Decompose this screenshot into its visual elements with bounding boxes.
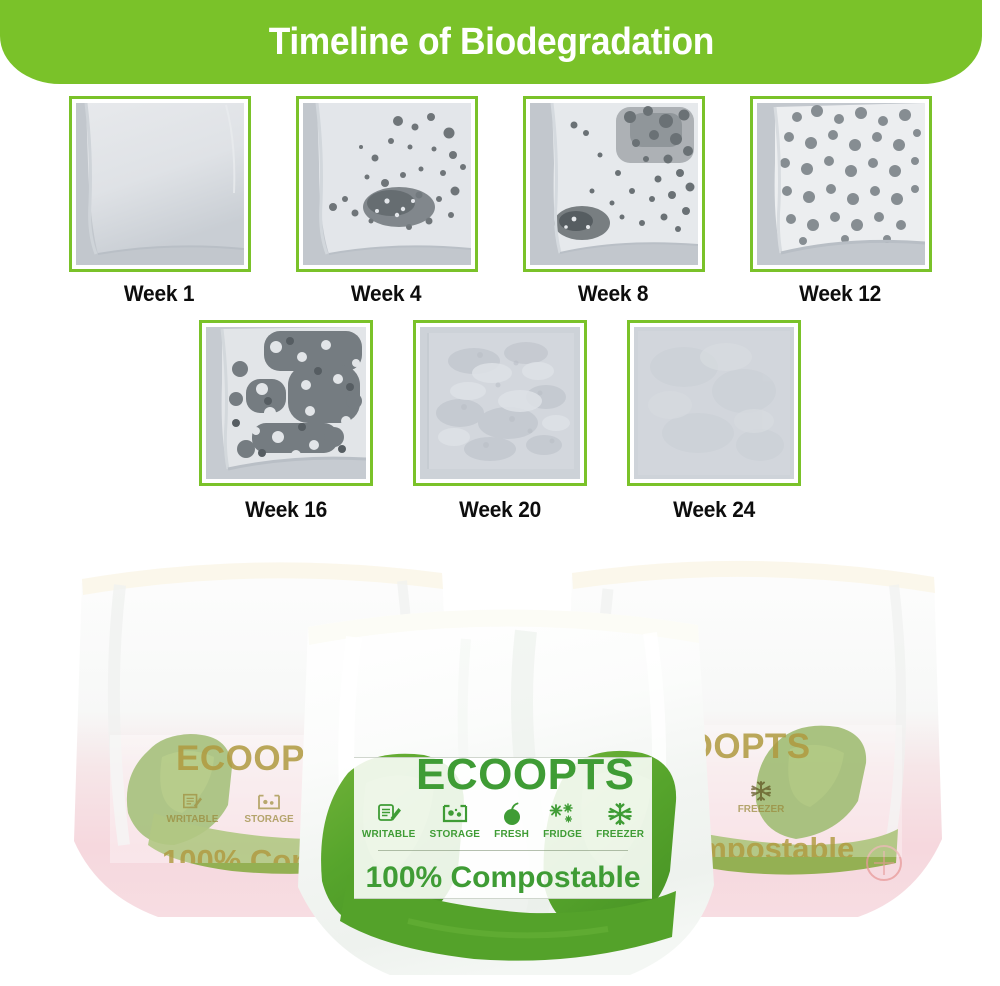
bag-center-feature-row: WRITABLE STORAGE [354,802,652,840]
sample-photo-week-24 [634,327,794,479]
feature-fridge: FRIDGE [543,802,582,840]
timeline-row-1: Week 1 [0,96,1000,307]
week-label: Week 24 [673,497,755,523]
feature-fresh: FRESH [494,802,529,840]
sample-photo-week-12 [757,103,925,265]
page-title: Timeline of Biodegradation [268,23,713,61]
sample-photo-week-20 [420,327,580,479]
timeline-cell-week-20: Week 20 [413,320,587,523]
bag-center-brand: ECOOPTS [416,753,635,797]
sample-photo-week-16 [206,327,366,479]
notepad-pen-icon [181,792,203,812]
thumbnail-frame-week-4 [296,96,478,272]
feature-freezer-label: FREEZER [596,830,644,840]
header-banner: Timeline of Biodegradation [0,0,982,84]
biodegradation-timeline: Week 1 [0,96,1000,523]
week-label: Week 8 [578,281,649,307]
notepad-pen-icon [376,802,402,826]
timeline-cell-week-1: Week 1 [69,96,251,307]
thumbnail-frame-week-20 [413,320,587,486]
feature-fresh-label: FRESH [494,830,529,840]
thumbnail-frame-week-8 [523,96,705,272]
timeline-row-2: Week 16 [0,320,1000,523]
thumbnail-frame-week-1 [69,96,251,272]
feature-freezer: FREEZER [738,780,785,815]
feature-writable: WRITABLE [362,802,416,840]
bag-center-claim: 100% Compostable [365,863,640,893]
timeline-cell-week-4: Week 4 [296,96,478,307]
product-photo-area: ECOOPTS WRITABLE [0,533,1000,986]
product-bag-center: WRITABLE STORAGE [278,585,726,985]
small-snowflakes-icon [548,802,578,826]
week-label: Week 1 [124,281,195,307]
feature-freezer: FREEZER [596,802,644,840]
storage-box-icon [441,802,469,826]
feature-storage: STORAGE [430,802,481,840]
sample-photo-week-8 [530,103,698,265]
feature-writable-label: WRITABLE [362,830,416,840]
week-label: Week 16 [245,497,327,523]
apple-fruit-icon [499,802,525,826]
timeline-cell-week-16: Week 16 [199,320,373,523]
thumbnail-frame-week-12 [750,96,932,272]
snowflake-icon [749,780,773,802]
feature-freezer-label: FREEZER [738,805,785,815]
label-divider [378,850,628,851]
sample-photo-week-1 [76,103,244,265]
feature-fridge-label: FRIDGE [543,830,582,840]
thumbnail-frame-week-24 [627,320,801,486]
feature-storage-label: STORAGE [430,830,481,840]
thumbnail-frame-week-16 [199,320,373,486]
week-label: Week 4 [351,281,422,307]
feature-writable: WRITABLE [166,792,218,825]
timeline-cell-week-24: Week 24 [627,320,801,523]
week-label: Week 12 [800,281,882,307]
snowflake-icon [606,802,634,826]
feature-writable-label: WRITABLE [166,815,218,825]
sample-photo-week-4 [303,103,471,265]
timeline-cell-week-8: Week 8 [523,96,705,307]
timeline-cell-week-12: Week 12 [750,96,932,307]
week-label: Week 20 [459,497,541,523]
